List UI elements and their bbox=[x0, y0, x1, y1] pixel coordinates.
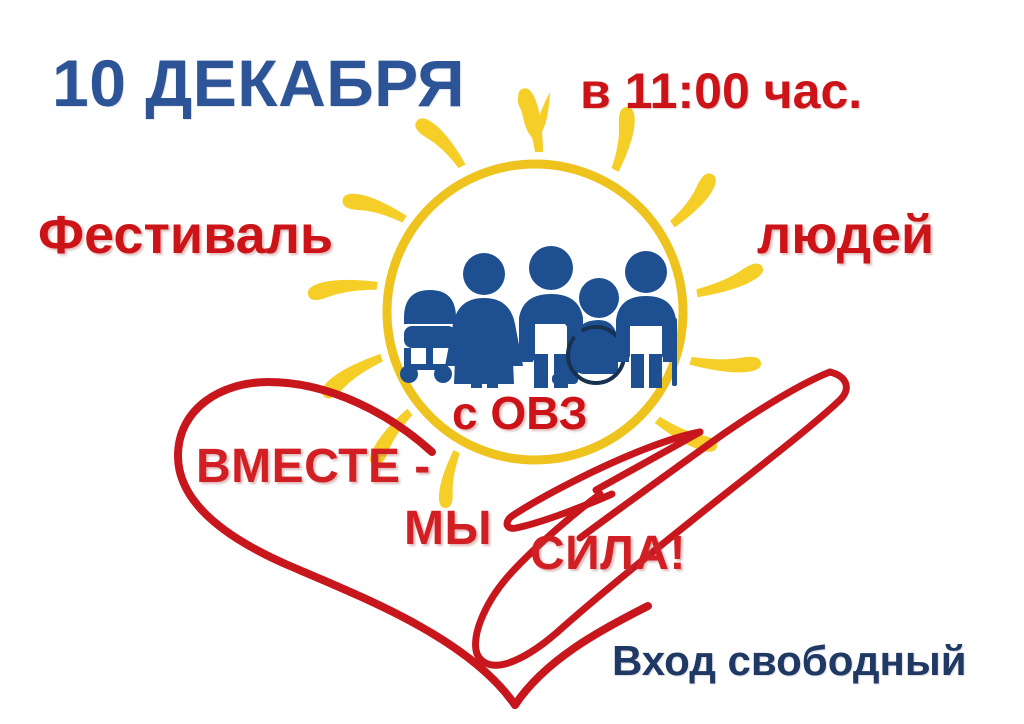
sun-ray-icon bbox=[520, 92, 550, 140]
title-word-festival: Фестиваль bbox=[38, 208, 333, 262]
poster-canvas: 10 ДЕКАБРЯ в 11:00 час. Фестиваль людей … bbox=[0, 0, 1024, 724]
sun-ray-icon bbox=[689, 340, 762, 383]
event-date-heading: 10 ДЕКАБРЯ bbox=[52, 50, 465, 116]
wheelchair-user-figure-icon bbox=[552, 278, 624, 384]
person-with-cane-figure-icon bbox=[616, 251, 677, 388]
sun-ray-icon bbox=[518, 93, 543, 152]
title-word-ovz: с ОВЗ bbox=[452, 390, 588, 436]
sun-ray-icon bbox=[316, 354, 389, 400]
woman-figure-icon bbox=[445, 253, 523, 388]
sun-ray-icon bbox=[340, 181, 407, 238]
sun-ray-icon bbox=[518, 88, 543, 149]
event-time-heading: в 11:00 час. bbox=[580, 66, 862, 116]
slogan-line-1: ВМЕСТЕ - bbox=[196, 443, 431, 491]
man-figure-icon bbox=[519, 246, 583, 388]
slogan-line-3: СИЛА! bbox=[530, 530, 686, 578]
entry-free-notice: Вход свободный bbox=[612, 640, 967, 682]
title-word-people: людей bbox=[757, 208, 934, 262]
people-pictogram-group bbox=[400, 246, 677, 388]
sun-ray-icon bbox=[307, 272, 378, 308]
baby-stroller-icon bbox=[400, 290, 474, 383]
sun-ray-icon bbox=[655, 404, 720, 464]
sun-ray-icon bbox=[694, 263, 766, 298]
slogan-line-2: МЫ bbox=[404, 505, 492, 553]
sun-ray-icon bbox=[660, 171, 726, 228]
